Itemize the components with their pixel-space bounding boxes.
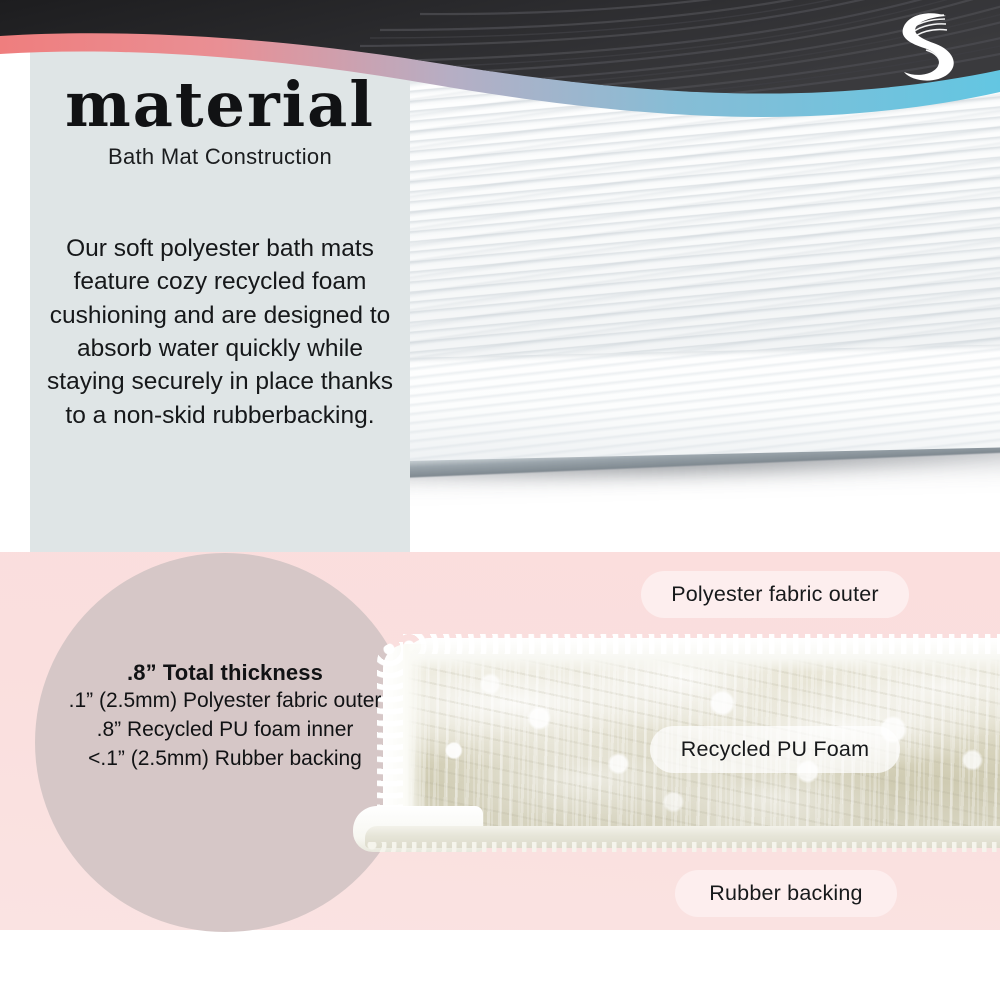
callout-polyester-fabric-outer: Polyester fabric outer [641, 571, 909, 618]
infographic-canvas: material Bath Mat Construction Our soft … [0, 0, 1000, 1000]
spec-list: .8” Total thickness .1” (2.5mm) Polyeste… [28, 658, 422, 774]
swirl-s-logo-icon [880, 6, 964, 86]
bath-mat-corner-photo [400, 14, 1000, 559]
callout-rubber-backing: Rubber backing [675, 870, 897, 917]
page-subtitle: Bath Mat Construction [30, 144, 410, 170]
foam-fabric-top-fuzz [403, 634, 1000, 654]
spec-total-thickness: .8” Total thickness [28, 658, 422, 687]
foam-rubber-backing-edge [365, 842, 1000, 852]
spec-line-fabric: .1” (2.5mm) Polyester fabric outer [28, 687, 422, 716]
callout-recycled-pu-foam: Recycled PU Foam [650, 726, 900, 773]
intro-paragraph: Our soft polyester bath mats feature coz… [42, 232, 398, 432]
page-title: material [30, 74, 410, 136]
spec-line-rubber: <.1” (2.5mm) Rubber backing [28, 745, 422, 774]
mat-front-lip-texture [400, 343, 1000, 462]
spec-line-foam: .8” Recycled PU foam inner [28, 716, 422, 745]
